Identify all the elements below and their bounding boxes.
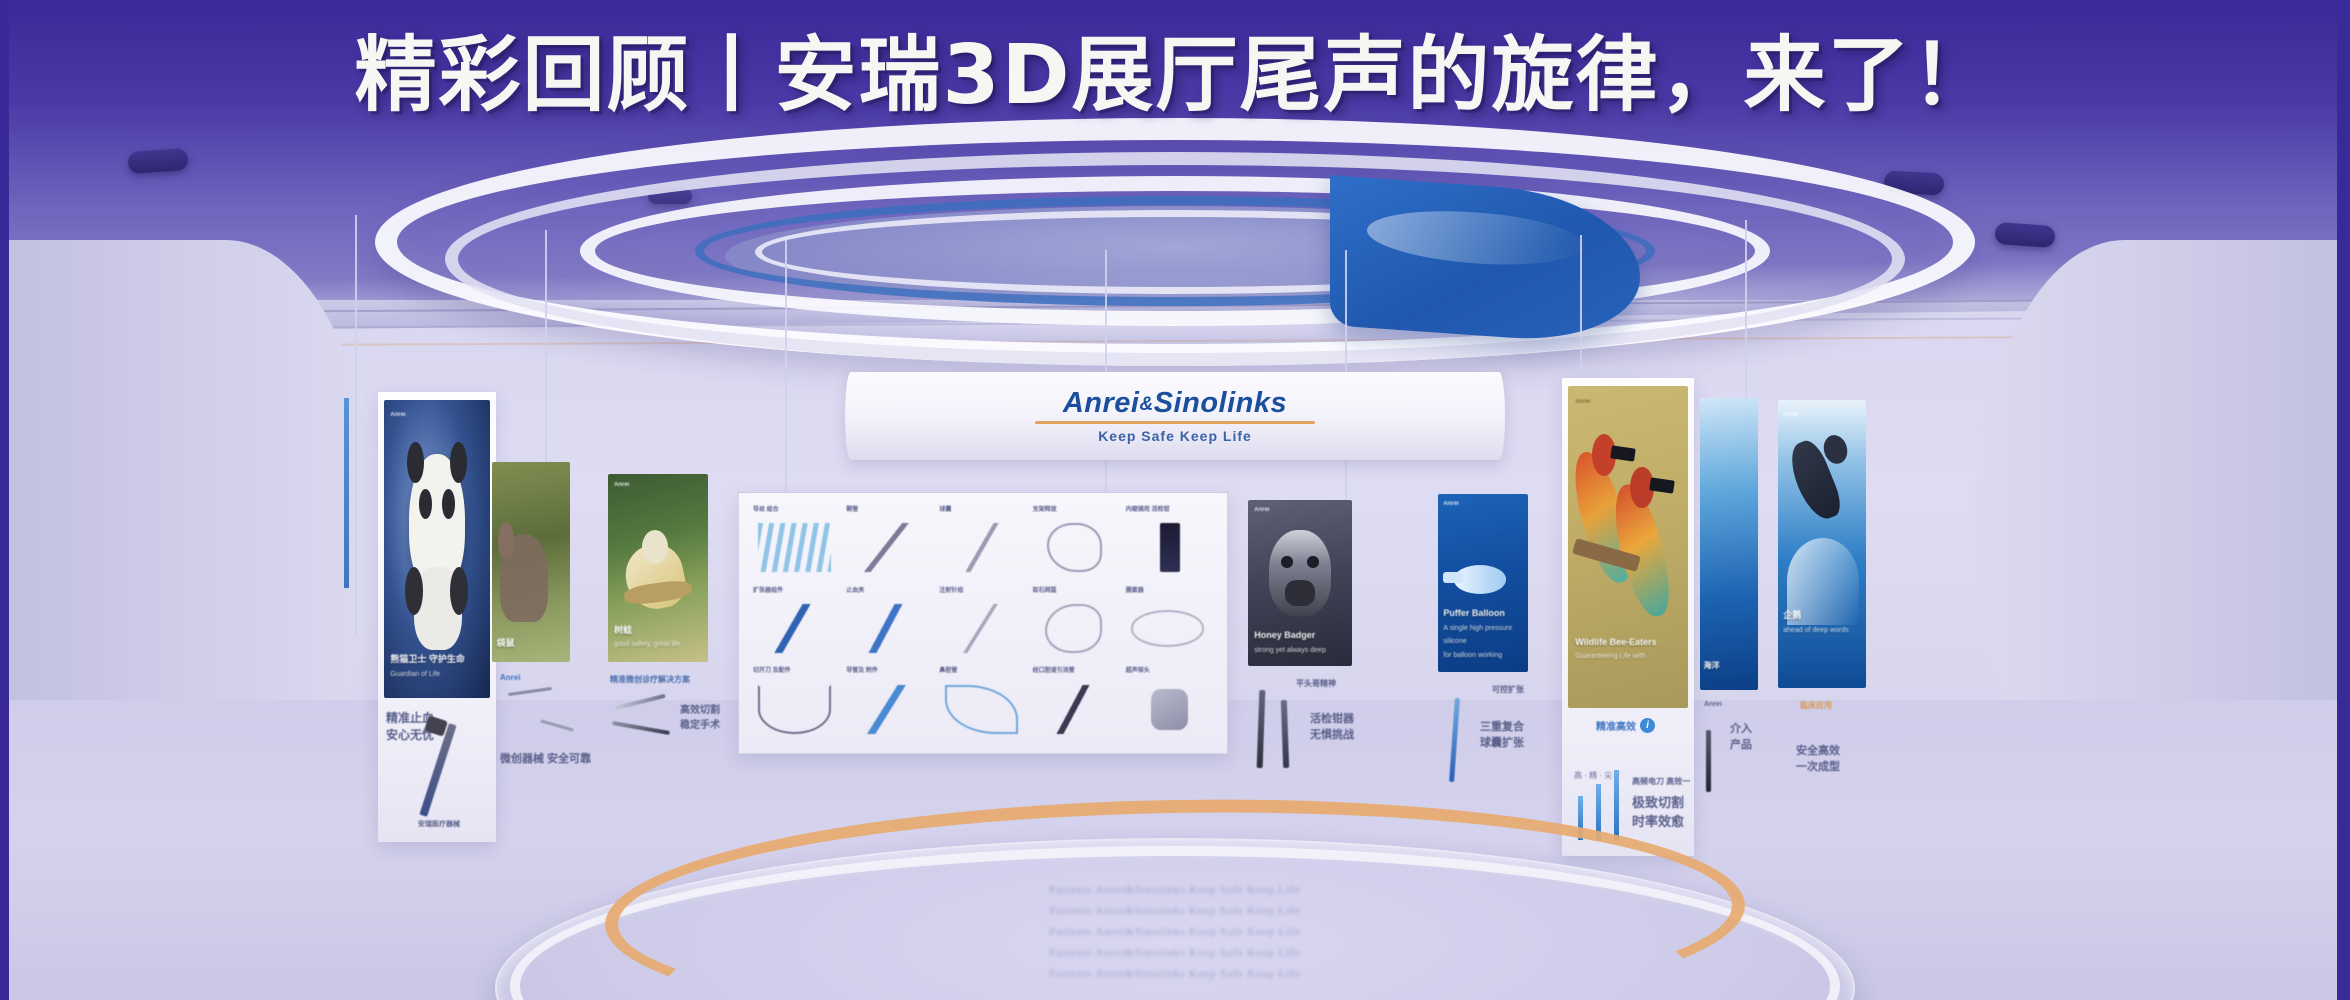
product-label: 支架释放 — [1033, 504, 1057, 513]
product-cell[interactable]: 取石网篮 — [1031, 584, 1122, 663]
poster-brand-label: Anrei — [614, 482, 629, 488]
instrument-probe-icon — [1706, 730, 1711, 792]
product-label: 注射针组 — [939, 585, 963, 594]
product-cell[interactable]: 支架释放 — [1031, 503, 1122, 582]
poster-frog-text: 树蛙 good safety, great life — [614, 624, 702, 651]
panel-birds-bars-label: 高 · 精 · 尖 — [1574, 770, 1612, 781]
brand-logo-text: Anrei&Sinolinks — [1063, 389, 1287, 418]
product-guidewire-icon — [758, 523, 831, 572]
poster-panda: Anrei 熊猫卫士 守护生命 Guardian of Life — [384, 400, 490, 698]
product-label: 鼻胆管 — [939, 665, 957, 674]
product-label: 导丝 组合 — [753, 504, 779, 513]
poster-penguin[interactable]: Anrei 企鹅 ahead of deep words — [1778, 400, 1866, 688]
product-label: 取石网篮 — [1033, 585, 1057, 594]
info-icon: i — [1640, 718, 1655, 733]
poster-bee-eaters: Anrei Wildlife Bee-Eaters Guaranteeing L… — [1568, 386, 1688, 708]
product-label: 止血夹 — [846, 585, 864, 594]
product-snare-loop-icon — [1131, 610, 1204, 646]
poster-badger-caption-top: 平头哥精神 — [1296, 678, 1336, 690]
brand-banner: Anrei&Sinolinks Keep Safe Keep Life — [845, 372, 1505, 460]
poster-kangaroo-caption: 微创器械 安全可靠 — [500, 752, 591, 768]
panel-birds-brandmark: 精准高效 i — [1596, 718, 1655, 733]
brand-ampersand: & — [1139, 393, 1153, 414]
product-cell[interactable]: 导丝 组合 — [751, 503, 842, 582]
product-label: 球囊 — [939, 504, 951, 513]
badger-eye-icon — [1307, 556, 1318, 568]
panel-birds-caption: 极致切割 时率效愈 — [1632, 794, 1684, 832]
panda-eye-icon — [419, 489, 432, 519]
brand-name-sinolinks: Sinolinks — [1154, 387, 1287, 419]
poster-frog[interactable]: Anrei 树蛙 good safety, great life — [608, 474, 708, 662]
poster-badger-caption: 活检钳器 无惧挑战 — [1310, 712, 1354, 744]
product-label: 切开刀 及配件 — [753, 665, 791, 674]
poster-balloon-caption-top: 可控扩张 — [1492, 684, 1524, 696]
brand-underline — [1035, 421, 1315, 424]
ceiling-light-puck — [1883, 170, 1944, 195]
poster-penguin-caption-top: 临床应用 — [1800, 700, 1832, 712]
ceiling-light-puck — [648, 188, 692, 204]
product-cell[interactable]: 注射针组 — [937, 584, 1028, 663]
panel-birds-caption-top: 高频电刀 高效一 — [1632, 776, 1690, 788]
panel-panda-footer: 安瑞医疗器械 — [418, 820, 460, 830]
product-cell[interactable]: 鞘管 — [844, 503, 935, 582]
badger-snout-icon — [1285, 580, 1314, 607]
wall-accent-strip-left — [344, 398, 349, 588]
product-sheath-icon — [851, 523, 924, 572]
product-cell[interactable]: 球囊 — [937, 503, 1028, 582]
product-balloon-icon — [945, 523, 1018, 572]
product-label: 超声探头 — [1126, 665, 1150, 674]
poster-birds-text: Wildlife Bee-Eaters Guaranteeing Life wi… — [1575, 636, 1681, 663]
product-biopsy-forceps-icon — [1160, 523, 1180, 572]
poster-brand-label: Anrei — [1783, 412, 1798, 418]
product-injection-needle-icon — [945, 604, 1018, 653]
product-cell[interactable]: 导管及 附件 — [844, 664, 935, 743]
frog-head-icon — [642, 530, 668, 564]
page-title: 精彩回顾丨安瑞3D展厅尾声的旋律，来了！ — [0, 30, 2350, 122]
poster-penguin-caption: 安全高效 一次成型 — [1796, 744, 1840, 776]
poster-balloon-text: Puffer Balloon A single high pressure si… — [1443, 607, 1522, 661]
poster-brand-label: Anrei — [390, 412, 405, 418]
poster-puffer-balloon[interactable]: Anrei Puffer Balloon A single high press… — [1438, 494, 1528, 672]
poster-brand-label: Anrei — [1254, 507, 1269, 513]
product-cell[interactable]: 扩张器组件 — [751, 584, 842, 663]
poster-kangaroo-text: 袋鼠 — [497, 637, 566, 651]
product-label: 经口胆道引流管 — [1033, 665, 1075, 674]
panda-eye-icon — [442, 489, 455, 519]
brand-name-anrei: Anrei — [1063, 387, 1140, 419]
product-cell[interactable]: 圈套器 — [1124, 584, 1215, 663]
poster-ocean-caption-small: Anrei — [1704, 700, 1722, 710]
panel-panda[interactable]: Anrei 熊猫卫士 守护生命 Guardian of Life 精准止血 安心… — [378, 392, 496, 842]
poster-ocean[interactable]: 海洋 — [1700, 398, 1758, 690]
product-label: 圈套器 — [1126, 585, 1144, 594]
poster-frog-caption-top: 精准微创诊疗解决方案 — [610, 674, 690, 686]
poster-honey-badger[interactable]: Anrei Honey Badger strong yet always dee… — [1248, 500, 1352, 666]
poster-kangaroo-brandmark: Anrei — [500, 672, 520, 684]
poster-brand-label: Anrei — [1575, 399, 1590, 405]
product-stone-basket-icon — [1045, 604, 1102, 653]
product-label: 导管及 附件 — [846, 665, 878, 674]
poster-panda-text: 熊猫卫士 守护生命 Guardian of Life — [390, 653, 483, 680]
exhibition-banner: Anrei&Sinolinks Keep Safe Keep Life Anre… — [0, 0, 2350, 1000]
product-label: 鞘管 — [846, 504, 858, 513]
frame-edge-left — [0, 0, 9, 1000]
brand-tagline: Keep Safe Keep Life — [1098, 428, 1252, 444]
poster-penguin-text: 企鹅 ahead of deep words — [1783, 609, 1860, 636]
bar-rod-3 — [1614, 770, 1619, 840]
poster-frog-caption: 高效切割 稳定手术 — [680, 704, 720, 733]
product-hemoclip-icon — [851, 604, 924, 653]
product-cell[interactable]: 超声探头 — [1124, 664, 1215, 743]
poster-balloon-caption: 三重复合 球囊扩张 — [1480, 720, 1524, 752]
panda-arm-icon — [450, 567, 468, 615]
product-label: 扩张器组件 — [753, 585, 783, 594]
product-display-wall[interactable]: 导丝 组合 鞘管 球囊 支架释放 内窥镜用 活检钳 扩张器组件 止血夹 注射 — [738, 492, 1228, 754]
product-sphincterotome-icon — [758, 685, 831, 734]
panda-ear-icon — [450, 442, 467, 484]
poster-ocean-caption: 介入 产品 — [1730, 722, 1752, 754]
poster-kangaroo[interactable]: 袋鼠 — [492, 462, 570, 662]
frame-edge-right — [2337, 0, 2350, 1000]
product-ultrasound-probe-icon — [1151, 689, 1187, 730]
product-cell[interactable]: 切开刀 及配件 — [751, 664, 842, 743]
poster-badger-text: Honey Badger strong yet always deep — [1254, 629, 1346, 656]
product-cell[interactable]: 内窥镜用 活检钳 — [1124, 503, 1215, 582]
product-cell[interactable]: 鼻胆管 — [937, 664, 1028, 743]
panel-birds-brand-label: 精准高效 — [1596, 718, 1636, 733]
product-drainage-tube-icon — [1038, 685, 1111, 734]
product-label: 内窥镜用 活检钳 — [1126, 504, 1170, 513]
badger-eye-icon — [1281, 556, 1292, 568]
ceiling-light-puck — [127, 148, 188, 174]
poster-brand-label: Anrei — [1443, 501, 1458, 507]
product-cell[interactable]: 经口胆道引流管 — [1031, 664, 1122, 743]
product-snare-icon — [1047, 523, 1102, 572]
kangaroo-head-icon — [498, 522, 514, 558]
product-nasobiliary-icon — [945, 685, 1018, 734]
product-cell[interactable]: 止血夹 — [844, 584, 935, 663]
hanger-rod — [355, 215, 357, 635]
ceiling-light-puck — [1994, 222, 2055, 248]
poster-ocean-text: 海洋 — [1703, 660, 1754, 672]
product-dilator-icon — [758, 604, 831, 653]
panda-arm-icon — [405, 567, 423, 615]
product-catheter-icon — [851, 685, 924, 734]
hanger-rod — [785, 240, 787, 500]
balloon-catheter-icon — [1443, 572, 1463, 583]
panel-bee-eaters[interactable]: Anrei Wildlife Bee-Eaters Guaranteeing L… — [1562, 378, 1694, 856]
